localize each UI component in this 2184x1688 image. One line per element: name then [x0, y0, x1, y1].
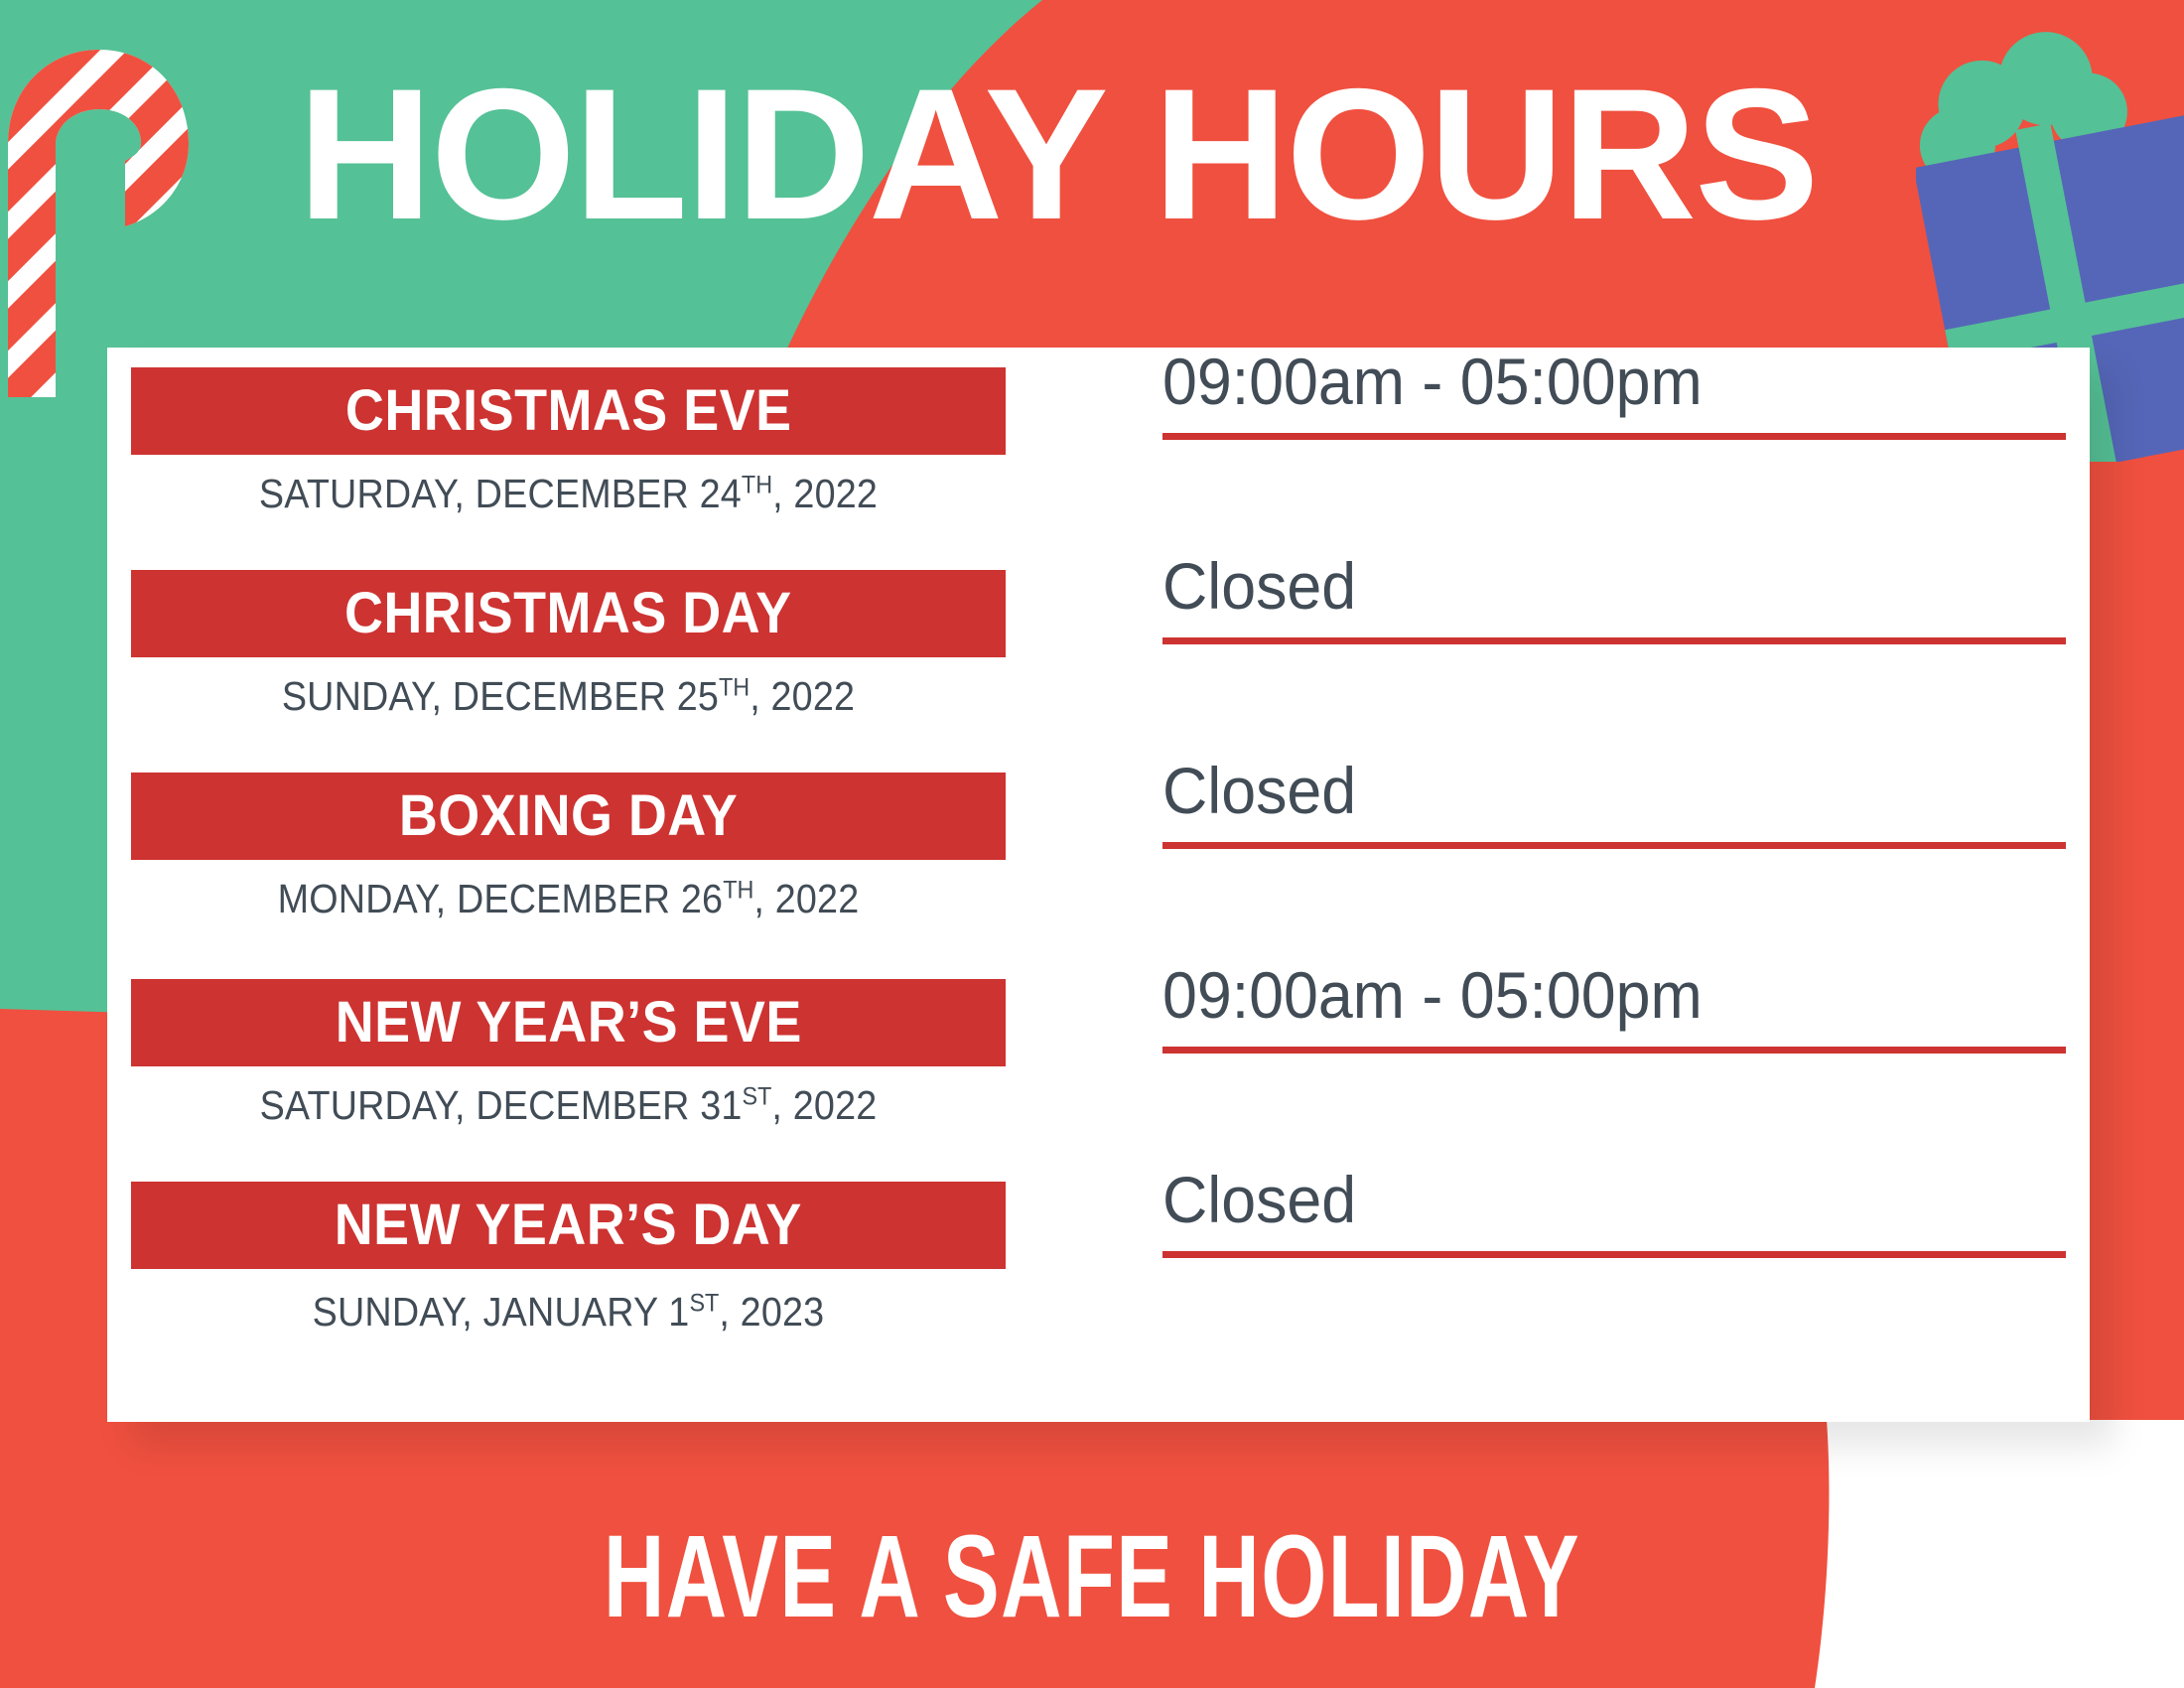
- holiday-label-bar: BOXING DAY: [131, 773, 1006, 860]
- holiday-label-bar: CHRISTMAS DAY: [131, 570, 1006, 657]
- hours-value: Closed: [1162, 753, 1356, 828]
- holiday-name: NEW YEAR’S DAY: [335, 1182, 802, 1269]
- holiday-name: CHRISTMAS DAY: [344, 570, 792, 657]
- date-suffix: , 2022: [750, 673, 855, 719]
- schedule-card: CHRISTMAS EVE SATURDAY, DECEMBER 24TH, 2…: [107, 348, 2090, 1422]
- holiday-label-bar: CHRISTMAS EVE: [131, 367, 1006, 455]
- date-ordinal: ST: [689, 1289, 719, 1317]
- date-ordinal: TH: [719, 673, 750, 701]
- hours-underline: [1162, 842, 2066, 849]
- table-row: CHRISTMAS DAY SUNDAY, DECEMBER 25TH, 202…: [107, 576, 2090, 780]
- date-suffix: , 2023: [719, 1289, 824, 1335]
- holiday-date: SATURDAY, DECEMBER 31ST, 2022: [166, 1082, 971, 1129]
- hours-underline: [1162, 1047, 2066, 1054]
- table-row: NEW YEAR’S DAY SUNDAY, JANUARY 1ST, 2023…: [107, 1190, 2090, 1418]
- hours-underline: [1162, 433, 2066, 440]
- footer-message: HAVE A SAFE HOLIDAY: [306, 1509, 1878, 1644]
- hours-value: Closed: [1162, 1162, 1356, 1237]
- hours-underline: [1162, 637, 2066, 644]
- table-row: CHRISTMAS EVE SATURDAY, DECEMBER 24TH, 2…: [107, 371, 2090, 576]
- date-suffix: , 2022: [753, 876, 859, 921]
- holiday-label-bar: NEW YEAR’S EVE: [131, 979, 1006, 1066]
- hours-value: 09:00am - 05:00pm: [1162, 957, 1703, 1033]
- holiday-name: BOXING DAY: [399, 773, 738, 860]
- date-suffix: , 2022: [772, 471, 878, 516]
- date-ordinal: TH: [742, 471, 772, 498]
- table-row: BOXING DAY MONDAY, DECEMBER 26TH, 2022 C…: [107, 780, 2090, 985]
- date-prefix: SATURDAY, DECEMBER 24: [259, 471, 742, 516]
- holiday-hours-poster: HOLIDAY HOURS CHRISTMAS EVE SATURDAY, DE…: [0, 0, 2184, 1688]
- date-suffix: , 2022: [771, 1082, 877, 1128]
- hours-underline: [1162, 1251, 2066, 1258]
- holiday-label-bar: NEW YEAR’S DAY: [131, 1182, 1006, 1269]
- page-title: HOLIDAY HOURS: [298, 55, 1936, 253]
- holiday-date: SATURDAY, DECEMBER 24TH, 2022: [166, 471, 971, 517]
- hours-value: Closed: [1162, 548, 1356, 624]
- holiday-name: CHRISTMAS EVE: [345, 367, 792, 455]
- date-ordinal: TH: [723, 876, 753, 904]
- schedule-rows: CHRISTMAS EVE SATURDAY, DECEMBER 24TH, 2…: [107, 348, 2090, 1418]
- date-prefix: SATURDAY, DECEMBER 31: [260, 1082, 743, 1128]
- date-prefix: SUNDAY, JANUARY 1: [313, 1289, 690, 1335]
- table-row: NEW YEAR’S EVE SATURDAY, DECEMBER 31ST, …: [107, 985, 2090, 1190]
- date-prefix: SUNDAY, DECEMBER 25: [282, 673, 719, 719]
- holiday-name: NEW YEAR’S EVE: [335, 979, 801, 1066]
- date-ordinal: ST: [743, 1082, 772, 1110]
- date-prefix: MONDAY, DECEMBER 26: [278, 876, 724, 921]
- hours-value: 09:00am - 05:00pm: [1162, 344, 1703, 419]
- holiday-date: SUNDAY, DECEMBER 25TH, 2022: [166, 673, 971, 720]
- holiday-date: SUNDAY, JANUARY 1ST, 2023: [166, 1289, 971, 1336]
- holiday-date: MONDAY, DECEMBER 26TH, 2022: [166, 876, 971, 922]
